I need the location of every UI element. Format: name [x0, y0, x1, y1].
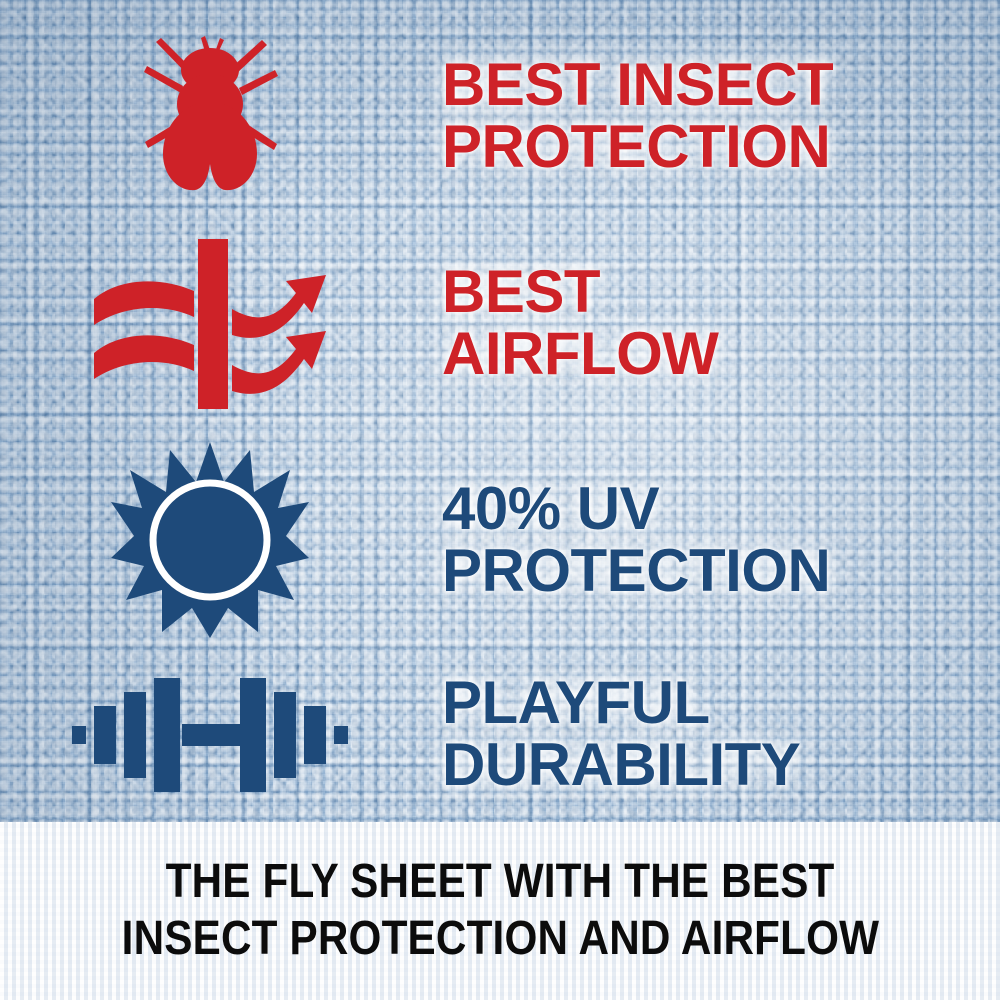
feature-label-durability: PLAYFUL DURABILITY — [442, 672, 1000, 796]
feature-text-cell: BEST AIRFLOW — [420, 261, 1000, 385]
feature-label-insect-protection: BEST INSECT PROTECTION — [442, 54, 1000, 178]
feature-text-cell: 40% UV PROTECTION — [420, 478, 1000, 602]
bottom-banner: THE FLY SHEET WITH THE BEST INSECT PROTE… — [0, 822, 1000, 1000]
feature-row-uv-protection: 40% UV PROTECTION — [0, 432, 1000, 648]
fly-icon — [125, 24, 295, 209]
sun-uv-icon — [110, 440, 310, 640]
airflow-icon — [90, 231, 330, 416]
feature-icon-cell — [0, 440, 420, 640]
feature-label-airflow: BEST AIRFLOW — [442, 261, 1000, 385]
feature-icon-cell — [0, 664, 420, 804]
feature-list: BEST INSECT PROTECTION — [0, 0, 1000, 822]
product-feature-poster: BEST INSECT PROTECTION — [0, 0, 1000, 1000]
feature-icon-cell — [0, 231, 420, 416]
feature-row-durability: PLAYFUL DURABILITY — [0, 648, 1000, 820]
feature-text-cell: BEST INSECT PROTECTION — [420, 54, 1000, 178]
feature-text-cell: PLAYFUL DURABILITY — [420, 672, 1000, 796]
dumbbell-icon — [72, 664, 348, 804]
feature-row-insect-protection: BEST INSECT PROTECTION — [0, 16, 1000, 216]
feature-row-airflow: BEST AIRFLOW — [0, 218, 1000, 428]
banner-line-1: THE FLY SHEET WITH THE BEST — [166, 854, 835, 911]
feature-icon-cell — [0, 24, 420, 209]
feature-label-uv-protection: 40% UV PROTECTION — [442, 478, 1000, 602]
banner-line-2: INSECT PROTECTION AND AIRFLOW — [121, 911, 879, 968]
